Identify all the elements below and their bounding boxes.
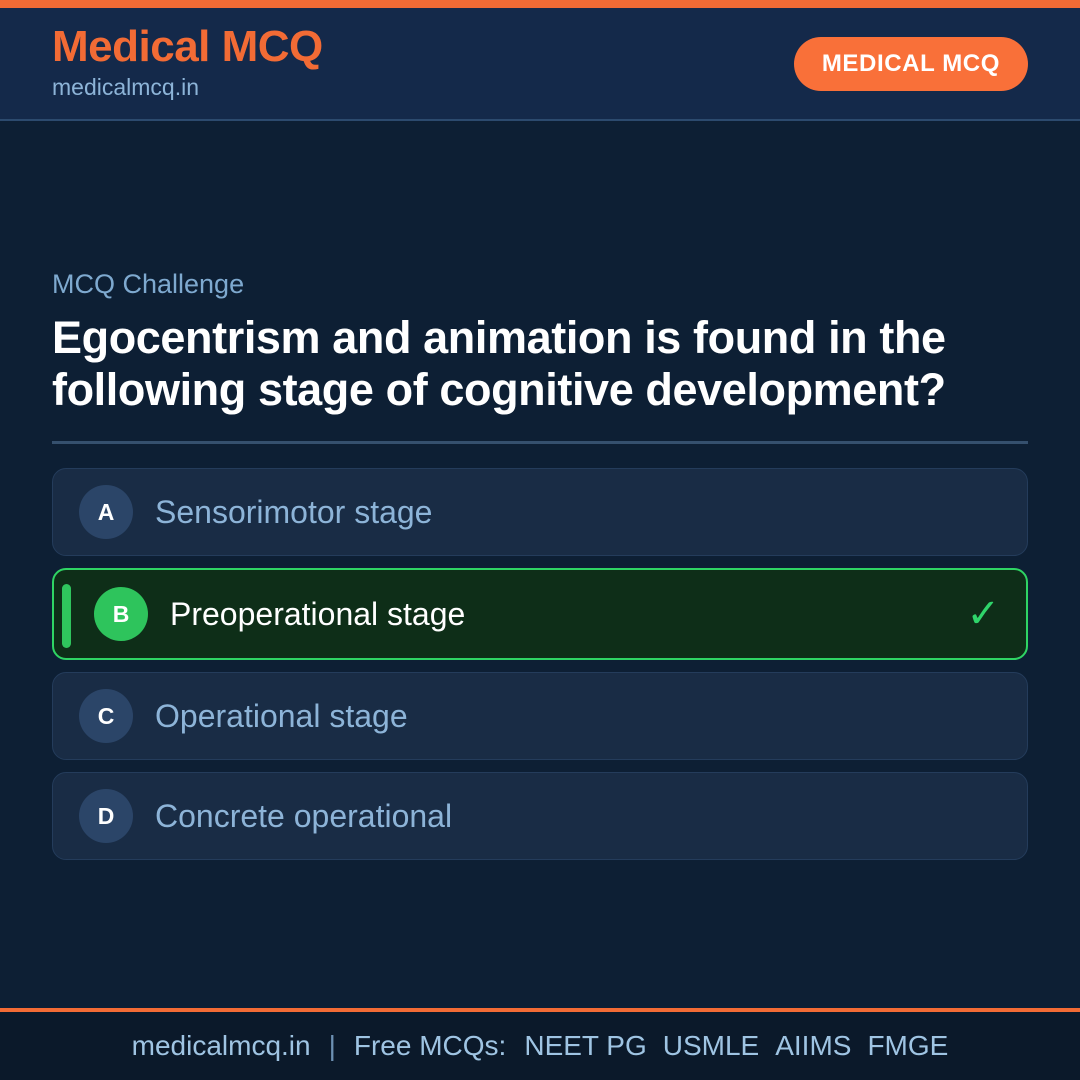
option-label: Operational stage: [155, 697, 408, 735]
option-a[interactable]: A Sensorimotor stage: [52, 468, 1028, 556]
footer-exam: NEET PG: [524, 1030, 646, 1062]
option-d[interactable]: D Concrete operational: [52, 772, 1028, 860]
footer: medicalmcq.in | Free MCQs: NEET PG USMLE…: [0, 1008, 1080, 1080]
footer-exam-list: NEET PG USMLE AIIMS FMGE: [524, 1030, 948, 1062]
eyebrow-label: MCQ Challenge: [52, 269, 1028, 300]
check-icon: ✓: [966, 594, 1000, 634]
option-b[interactable]: B Preoperational stage ✓: [52, 568, 1028, 660]
footer-content: medicalmcq.in | Free MCQs: NEET PG USMLE…: [132, 1030, 949, 1062]
correct-accent-bar: [62, 584, 71, 648]
option-label: Sensorimotor stage: [155, 493, 432, 531]
question-text: Egocentrism and animation is found in th…: [52, 312, 1028, 416]
options-list: A Sensorimotor stage B Preoperational st…: [52, 468, 1028, 860]
mcq-card: Medical MCQ medicalmcq.in MEDICAL MCQ MC…: [0, 0, 1080, 1080]
header: Medical MCQ medicalmcq.in MEDICAL MCQ: [0, 8, 1080, 121]
footer-separator: |: [329, 1030, 336, 1062]
footer-label: Free MCQs:: [354, 1030, 506, 1062]
footer-exam: FMGE: [867, 1030, 948, 1062]
top-accent-bar: [0, 0, 1080, 8]
brand: Medical MCQ medicalmcq.in: [52, 24, 323, 102]
question-divider: [52, 441, 1028, 444]
footer-exam: USMLE: [663, 1030, 759, 1062]
footer-site: medicalmcq.in: [132, 1030, 311, 1062]
option-label: Preoperational stage: [170, 595, 465, 633]
option-letter-badge: A: [79, 485, 133, 539]
option-letter-badge: C: [79, 689, 133, 743]
brand-title: Medical MCQ: [52, 24, 323, 70]
option-label: Concrete operational: [155, 797, 452, 835]
footer-exam: AIIMS: [775, 1030, 851, 1062]
header-badge: MEDICAL MCQ: [794, 37, 1028, 91]
brand-subtitle: medicalmcq.in: [52, 73, 323, 103]
option-c[interactable]: C Operational stage: [52, 672, 1028, 760]
main-content: MCQ Challenge Egocentrism and animation …: [0, 121, 1080, 1008]
option-letter-badge: B: [94, 587, 148, 641]
option-letter-badge: D: [79, 789, 133, 843]
